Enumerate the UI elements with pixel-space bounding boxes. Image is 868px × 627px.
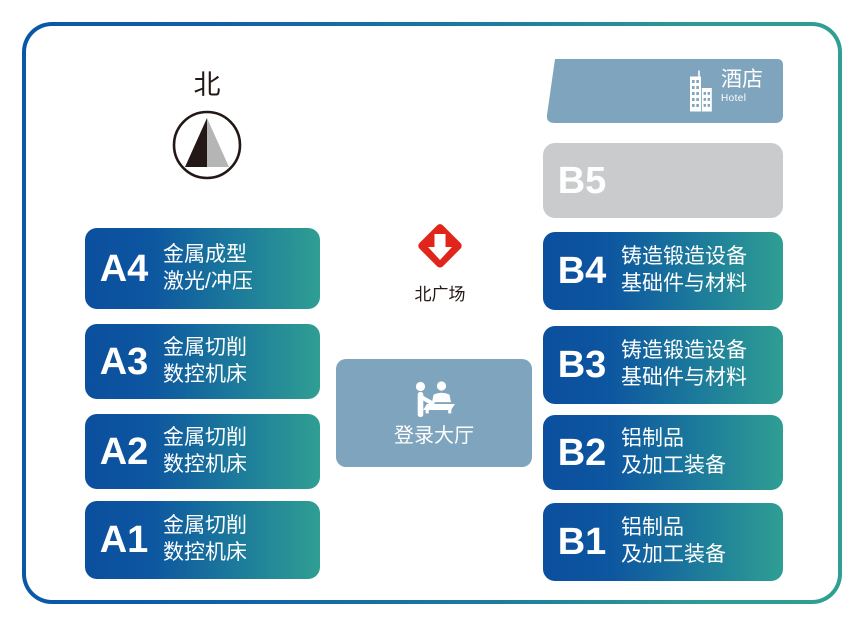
north-plaza-marker[interactable]: 北广场: [392, 220, 488, 303]
hall-code: B4: [543, 252, 621, 290]
hall-code: A2: [85, 433, 163, 471]
hall-code: A1: [85, 521, 163, 559]
red-diamond-down-arrow-icon: [414, 220, 466, 272]
hall-code: A4: [85, 250, 163, 288]
reception-counter-icon: [408, 380, 460, 420]
hall-desc: 金属切削 数控机床: [163, 335, 320, 389]
hall-code: B3: [543, 346, 621, 384]
exhibition-map: 北 北广场 登录大厅: [0, 0, 868, 627]
hotel-building-icon: [684, 68, 716, 114]
hall-code: B5: [543, 162, 621, 200]
hall-block-b3[interactable]: B3 铸造锻造设备 基础件与材料: [543, 326, 783, 404]
hotel-content: 酒店 Hotel: [684, 68, 763, 114]
hall-desc: 金属切削 数控机床: [163, 513, 320, 567]
hall-desc: 铸造锻造设备 基础件与材料: [621, 338, 783, 392]
hotel-zone[interactable]: 酒店 Hotel: [543, 59, 783, 125]
registration-hall[interactable]: 登录大厅: [336, 359, 532, 467]
hall-block-b4[interactable]: B4 铸造锻造设备 基础件与材料: [543, 232, 783, 310]
hall-desc: 铝制品 及加工装备: [621, 426, 783, 480]
hall-block-b1[interactable]: B1 铝制品 及加工装备: [543, 503, 783, 581]
hall-code: A3: [85, 343, 163, 381]
hall-desc: 铝制品 及加工装备: [621, 515, 783, 569]
hall-desc: 铸造锻造设备 基础件与材料: [621, 244, 783, 298]
hotel-label-en: Hotel: [721, 93, 746, 104]
hall-desc: 金属成型 激光/冲压: [163, 242, 320, 296]
hall-block-a2[interactable]: A2 金属切削 数控机床: [85, 414, 320, 489]
compass: 北: [152, 72, 262, 204]
hotel-labels: 酒店 Hotel: [721, 68, 763, 104]
hall-block-b5[interactable]: B5: [543, 143, 783, 218]
hall-desc: 金属切削 数控机床: [163, 425, 320, 479]
compass-north-arrow-icon: [171, 109, 243, 181]
hall-code: B1: [543, 523, 621, 561]
north-plaza-label: 北广场: [415, 286, 466, 303]
hotel-label-cn: 酒店: [721, 69, 763, 91]
hall-block-b2[interactable]: B2 铝制品 及加工装备: [543, 415, 783, 490]
compass-label: 北: [194, 72, 221, 99]
hall-code: B2: [543, 434, 621, 472]
hall-block-a4[interactable]: A4 金属成型 激光/冲压: [85, 228, 320, 309]
hall-block-a1[interactable]: A1 金属切削 数控机床: [85, 501, 320, 579]
hall-block-a3[interactable]: A3 金属切削 数控机床: [85, 324, 320, 399]
registration-hall-label: 登录大厅: [394, 426, 474, 446]
